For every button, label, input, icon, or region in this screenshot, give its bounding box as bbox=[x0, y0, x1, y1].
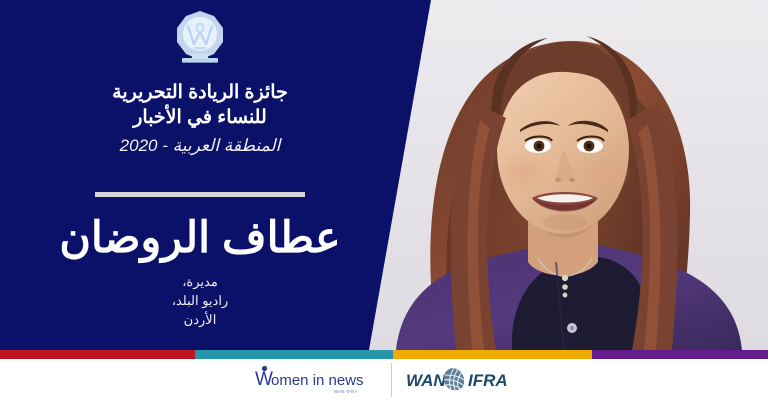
award-poster: جائزة الريادة التحريرية للنساء في الأخبا… bbox=[0, 0, 768, 400]
winner-role-line-3: الأردن bbox=[40, 310, 360, 329]
award-trophy-glyph bbox=[168, 8, 232, 68]
wan-ifra-text-left: WAN bbox=[406, 371, 446, 390]
women-in-news-tagline: WAN-IFRA bbox=[334, 389, 358, 394]
stripe-segment-purple bbox=[592, 350, 768, 359]
award-title-line-1: جائزة الريادة التحريرية bbox=[30, 80, 370, 105]
award-title-block: جائزة الريادة التحريرية للنساء في الأخبا… bbox=[30, 80, 370, 159]
brand-color-stripe bbox=[0, 350, 768, 359]
stripe-segment-red bbox=[0, 350, 195, 359]
award-edition-label: المنطقة العربية - 2020 bbox=[30, 133, 370, 159]
award-title-line-2: للنساء في الأخبار bbox=[30, 105, 370, 130]
women-in-news-wordmark: W omen in news WAN-IFRA bbox=[252, 363, 377, 397]
stripe-segment-orange bbox=[393, 350, 592, 359]
wan-ifra-globe-icon bbox=[443, 368, 465, 390]
wan-ifra-text-right: IFRA bbox=[468, 371, 508, 390]
winner-role-block: مديرة، راديو البلد، الأردن bbox=[40, 272, 360, 329]
women-in-news-rest: omen in news bbox=[271, 372, 364, 389]
footer-logo-divider bbox=[391, 363, 392, 397]
women-in-news-logo: W omen in news WAN-IFRA bbox=[252, 363, 377, 397]
award-trophy-icon bbox=[168, 8, 232, 68]
wan-ifra-wordmark: WAN IFRA bbox=[406, 365, 516, 395]
winner-name: عطاف الروضان bbox=[20, 213, 380, 263]
footer-logos: W omen in news WAN-IFRA WAN bbox=[0, 359, 768, 400]
stripe-segment-teal bbox=[195, 350, 393, 359]
footer-bar: W omen in news WAN-IFRA WAN bbox=[0, 359, 768, 400]
title-divider bbox=[95, 192, 305, 197]
winner-role-line-1: مديرة، bbox=[40, 272, 360, 291]
winner-role-line-2: راديو البلد، bbox=[40, 291, 360, 310]
wan-ifra-logo: WAN IFRA bbox=[406, 365, 516, 395]
